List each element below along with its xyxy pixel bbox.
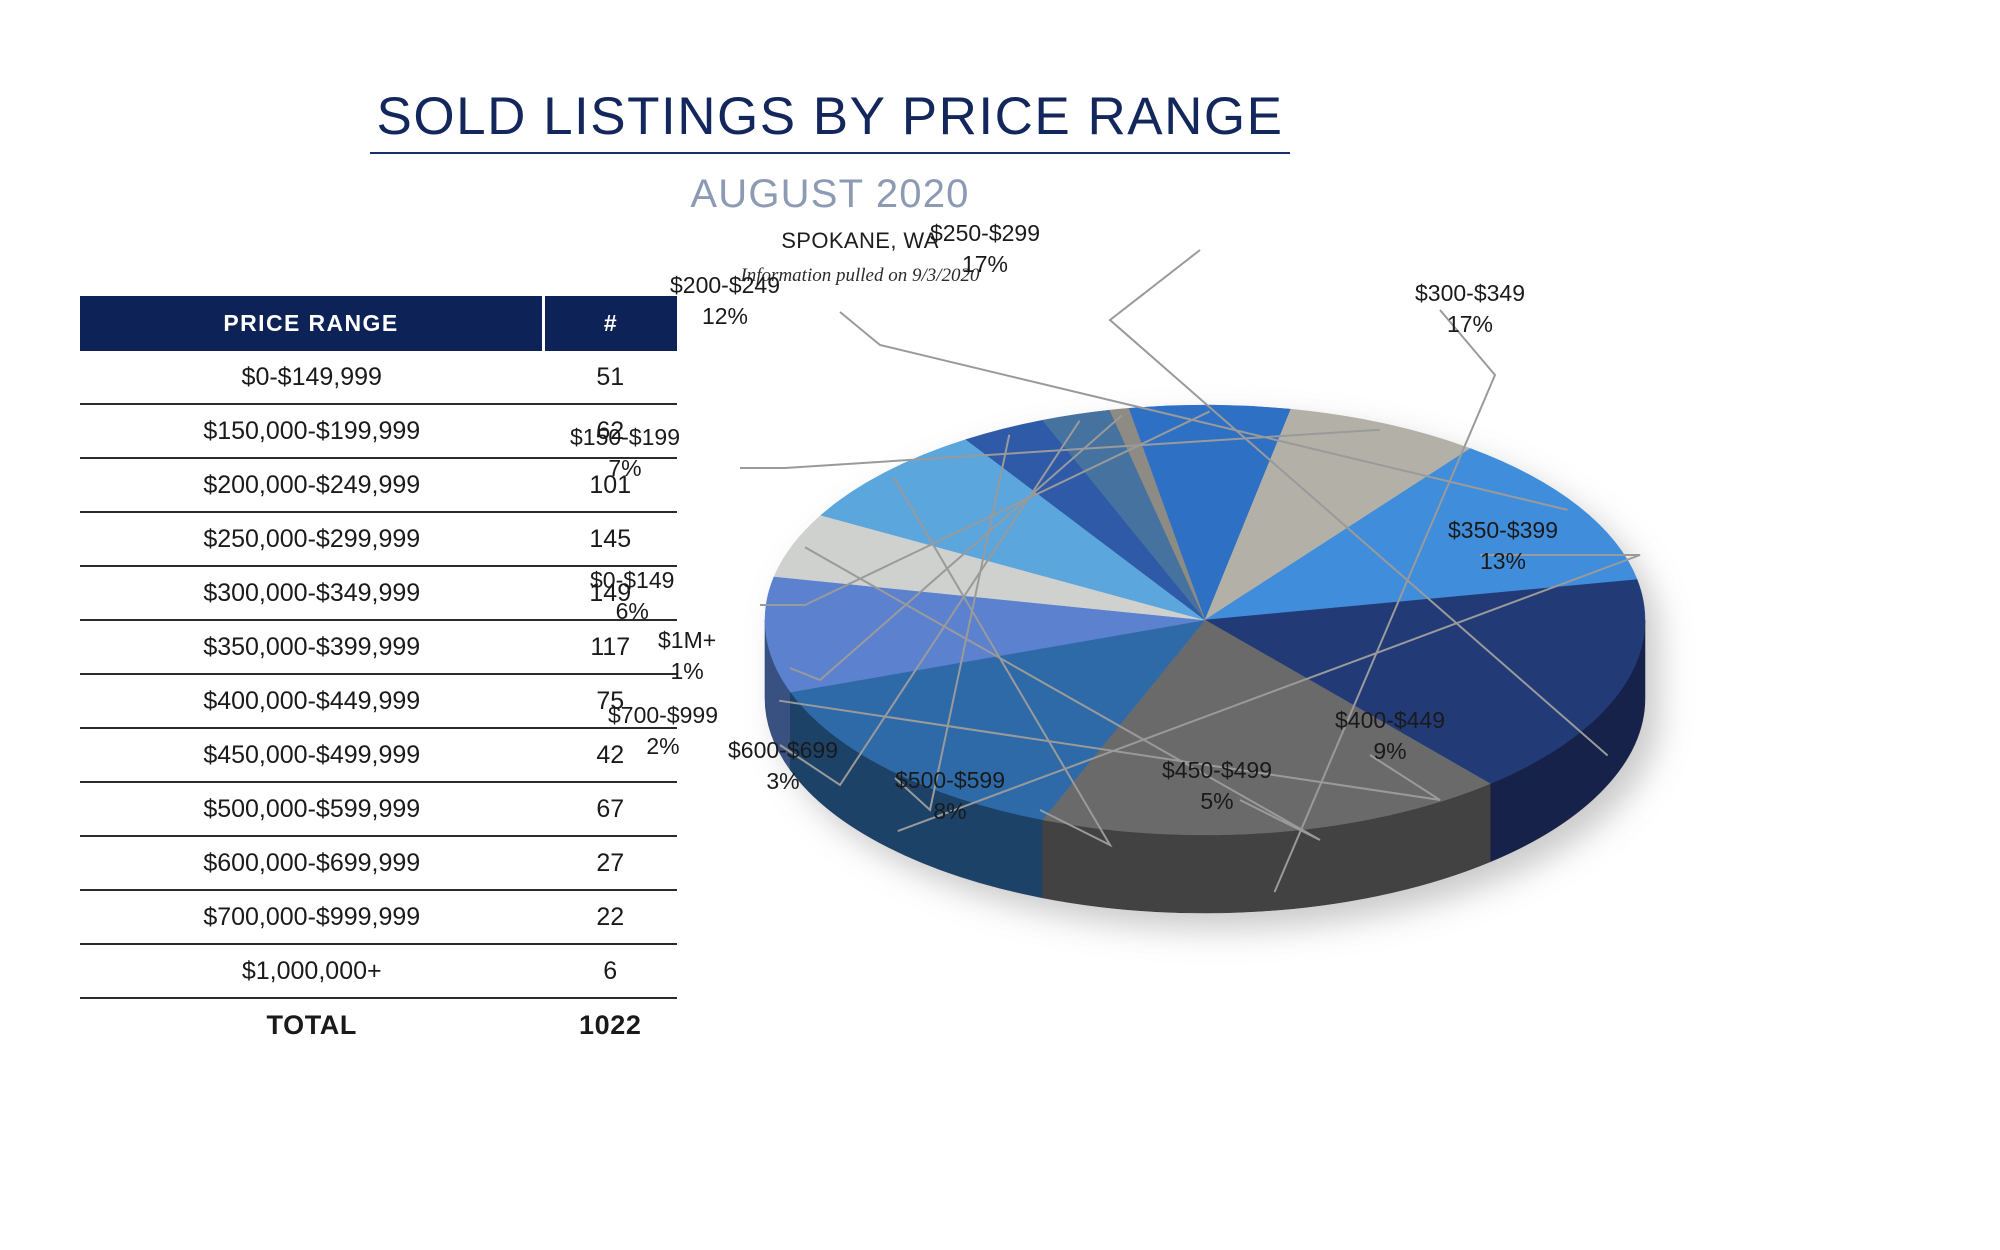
pie-label-category: $0-$149 <box>590 567 674 593</box>
table-row: $300,000-$349,999149 <box>80 566 677 620</box>
pie-label-category: $1M+ <box>658 627 716 653</box>
cell-count: 27 <box>544 836 678 890</box>
pie-label-percent: 17% <box>1415 309 1525 340</box>
pie-label-percent: 8% <box>895 796 1005 827</box>
table-row: $700,000-$999,99922 <box>80 890 677 944</box>
pie-label-category: $400-$449 <box>1335 707 1445 733</box>
pie-label-percent: 3% <box>728 766 838 797</box>
pie-label-350-399: $350-$399 13% <box>1448 515 1558 576</box>
sold-listings-report: SOLD LISTINGS BY PRICE RANGE AUGUST 2020… <box>0 0 2000 1250</box>
table-row: $500,000-$599,99967 <box>80 782 677 836</box>
cell-price-range: $300,000-$349,999 <box>80 566 544 620</box>
table-row: $450,000-$499,99942 <box>80 728 677 782</box>
cell-price-range: $350,000-$399,999 <box>80 620 544 674</box>
cell-price-range: $0-$149,999 <box>80 351 544 404</box>
cell-count: 22 <box>544 890 678 944</box>
pie-chart: $250-$299 17% $300-$349 17% $350-$399 13… <box>680 200 2000 1100</box>
pie-label-450-499: $450-$499 5% <box>1162 755 1272 816</box>
table-total-row: TOTAL1022 <box>80 998 677 1051</box>
pie-label-600-699: $600-$699 3% <box>728 735 838 796</box>
cell-price-range: $200,000-$249,999 <box>80 458 544 512</box>
cell-count: 67 <box>544 782 678 836</box>
table-row: $350,000-$399,999117 <box>80 620 677 674</box>
cell-price-range: $700,000-$999,999 <box>80 890 544 944</box>
total-value: 1022 <box>544 998 678 1051</box>
column-header-price-range: PRICE RANGE <box>80 296 544 351</box>
cell-count: 6 <box>544 944 678 998</box>
pie-label-category: $600-$699 <box>728 737 838 763</box>
cell-count: 145 <box>544 512 678 566</box>
table-header-row: PRICE RANGE # <box>80 296 677 351</box>
pie-label-category: $700-$999 <box>608 702 718 728</box>
pie-label-category: $150-$199 <box>570 424 680 450</box>
pie-label-700-999: $700-$999 2% <box>608 700 718 761</box>
cell-count: 51 <box>544 351 678 404</box>
pie-label-200-249: $200-$249 12% <box>670 270 780 331</box>
title-underline <box>370 152 1290 154</box>
pie-label-percent: 17% <box>930 249 1040 280</box>
cell-price-range: $150,000-$199,999 <box>80 404 544 458</box>
cell-price-range: $600,000-$699,999 <box>80 836 544 890</box>
table-row: $600,000-$699,99927 <box>80 836 677 890</box>
pie-label-percent: 5% <box>1162 786 1272 817</box>
pie-label-150-199: $150-$199 7% <box>570 422 680 483</box>
pie-label-category: $300-$349 <box>1415 280 1525 306</box>
table-row: $1,000,000+6 <box>80 944 677 998</box>
price-range-table: PRICE RANGE # $0-$149,99951$150,000-$199… <box>80 296 674 1051</box>
pie-label-0-149: $0-$149 6% <box>590 565 674 626</box>
pie-label-percent: 6% <box>590 596 674 627</box>
pie-label-percent: 2% <box>608 731 718 762</box>
pie-chart-svg <box>680 200 2000 1100</box>
pie-label-400-449: $400-$449 9% <box>1335 705 1445 766</box>
pie-label-category: $200-$249 <box>670 272 780 298</box>
table-row: $0-$149,99951 <box>80 351 677 404</box>
pie-label-500-599: $500-$599 8% <box>895 765 1005 826</box>
cell-price-range: $400,000-$449,999 <box>80 674 544 728</box>
pie-label-percent: 9% <box>1335 736 1445 767</box>
column-header-count: # <box>544 296 678 351</box>
pie-label-category: $250-$299 <box>930 220 1040 246</box>
cell-price-range: $450,000-$499,999 <box>80 728 544 782</box>
cell-price-range: $1,000,000+ <box>80 944 544 998</box>
pie-label-category: $350-$399 <box>1448 517 1558 543</box>
pie-label-300-349: $300-$349 17% <box>1415 278 1525 339</box>
table-row: $250,000-$299,999145 <box>80 512 677 566</box>
table-row: $400,000-$449,99975 <box>80 674 677 728</box>
pie-label-250-299: $250-$299 17% <box>930 218 1040 279</box>
total-label: TOTAL <box>80 998 544 1051</box>
pie-label-percent: 13% <box>1448 546 1558 577</box>
cell-count: 117 <box>544 620 678 674</box>
pie-label-1m-plus: $1M+ 1% <box>658 625 716 686</box>
pie-label-category: $450-$499 <box>1162 757 1272 783</box>
pie-label-category: $500-$599 <box>895 767 1005 793</box>
pie-label-percent: 1% <box>658 656 716 687</box>
cell-price-range: $500,000-$599,999 <box>80 782 544 836</box>
pie-label-percent: 12% <box>670 301 780 332</box>
cell-price-range: $250,000-$299,999 <box>80 512 544 566</box>
page-title: SOLD LISTINGS BY PRICE RANGE <box>370 86 1290 147</box>
pie-label-percent: 7% <box>570 453 680 484</box>
